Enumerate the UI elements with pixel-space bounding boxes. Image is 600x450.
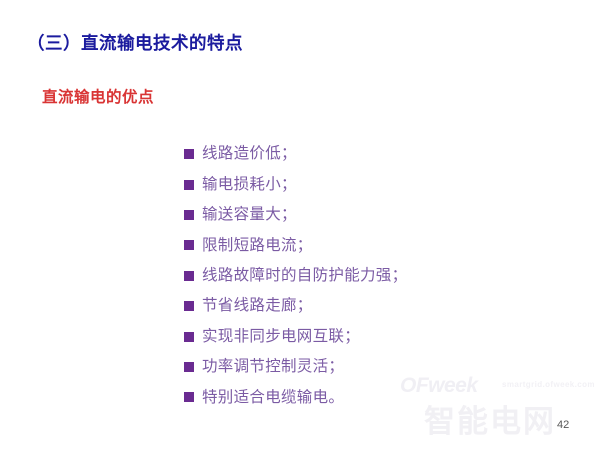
- list-item-label: 限制短路电流；: [202, 238, 313, 254]
- list-item: 输电损耗小；: [184, 169, 407, 199]
- slide-subtitle: 直流输电的优点: [42, 85, 154, 107]
- list-item-label: 输电损耗小；: [202, 177, 297, 193]
- filled-square-bullet-icon: [184, 332, 194, 342]
- page-number: 42: [557, 419, 569, 431]
- filled-square-bullet-icon: [184, 210, 194, 220]
- filled-square-bullet-icon: [184, 240, 194, 250]
- list-item: 功率调节控制灵活；: [184, 352, 407, 382]
- watermark-url-text: smartgrid.ofweek.com: [502, 380, 595, 389]
- list-item: 限制短路电流；: [184, 230, 407, 260]
- list-item: 实现非同步电网互联；: [184, 321, 407, 351]
- filled-square-bullet-icon: [184, 392, 194, 402]
- watermark-brand-text: OFweek: [400, 374, 478, 398]
- filled-square-bullet-icon: [184, 301, 194, 311]
- list-item-label: 节省线路走廊；: [202, 298, 313, 314]
- list-item: 输送容量大；: [184, 200, 407, 230]
- advantages-bullet-list: 线路造价低； 输电损耗小； 输送容量大； 限制短路电流； 线路故障时的自防护能力…: [184, 139, 407, 413]
- list-item-label: 功率调节控制灵活；: [202, 359, 344, 375]
- list-item: 线路故障时的自防护能力强；: [184, 261, 407, 291]
- list-item-label: 特别适合电缆输电。: [202, 390, 344, 406]
- list-item-label: 输送容量大；: [202, 207, 297, 223]
- slide-title: （三）直流输电技术的特点: [27, 30, 243, 55]
- filled-square-bullet-icon: [184, 362, 194, 372]
- list-item-label: 线路造价低；: [202, 146, 297, 162]
- list-item: 节省线路走廊；: [184, 291, 407, 321]
- slide-canvas: （三）直流输电技术的特点 直流输电的优点 线路造价低； 输电损耗小； 输送容量大…: [0, 0, 600, 450]
- list-item-label: 线路故障时的自防护能力强；: [202, 268, 407, 284]
- watermark-brand-cn-text: 智能电网: [424, 396, 556, 441]
- filled-square-bullet-icon: [184, 180, 194, 190]
- filled-square-bullet-icon: [184, 149, 194, 159]
- list-item: 特别适合电缆输电。: [184, 382, 407, 412]
- list-item: 线路造价低；: [184, 139, 407, 169]
- list-item-label: 实现非同步电网互联；: [202, 329, 360, 345]
- filled-square-bullet-icon: [184, 271, 194, 281]
